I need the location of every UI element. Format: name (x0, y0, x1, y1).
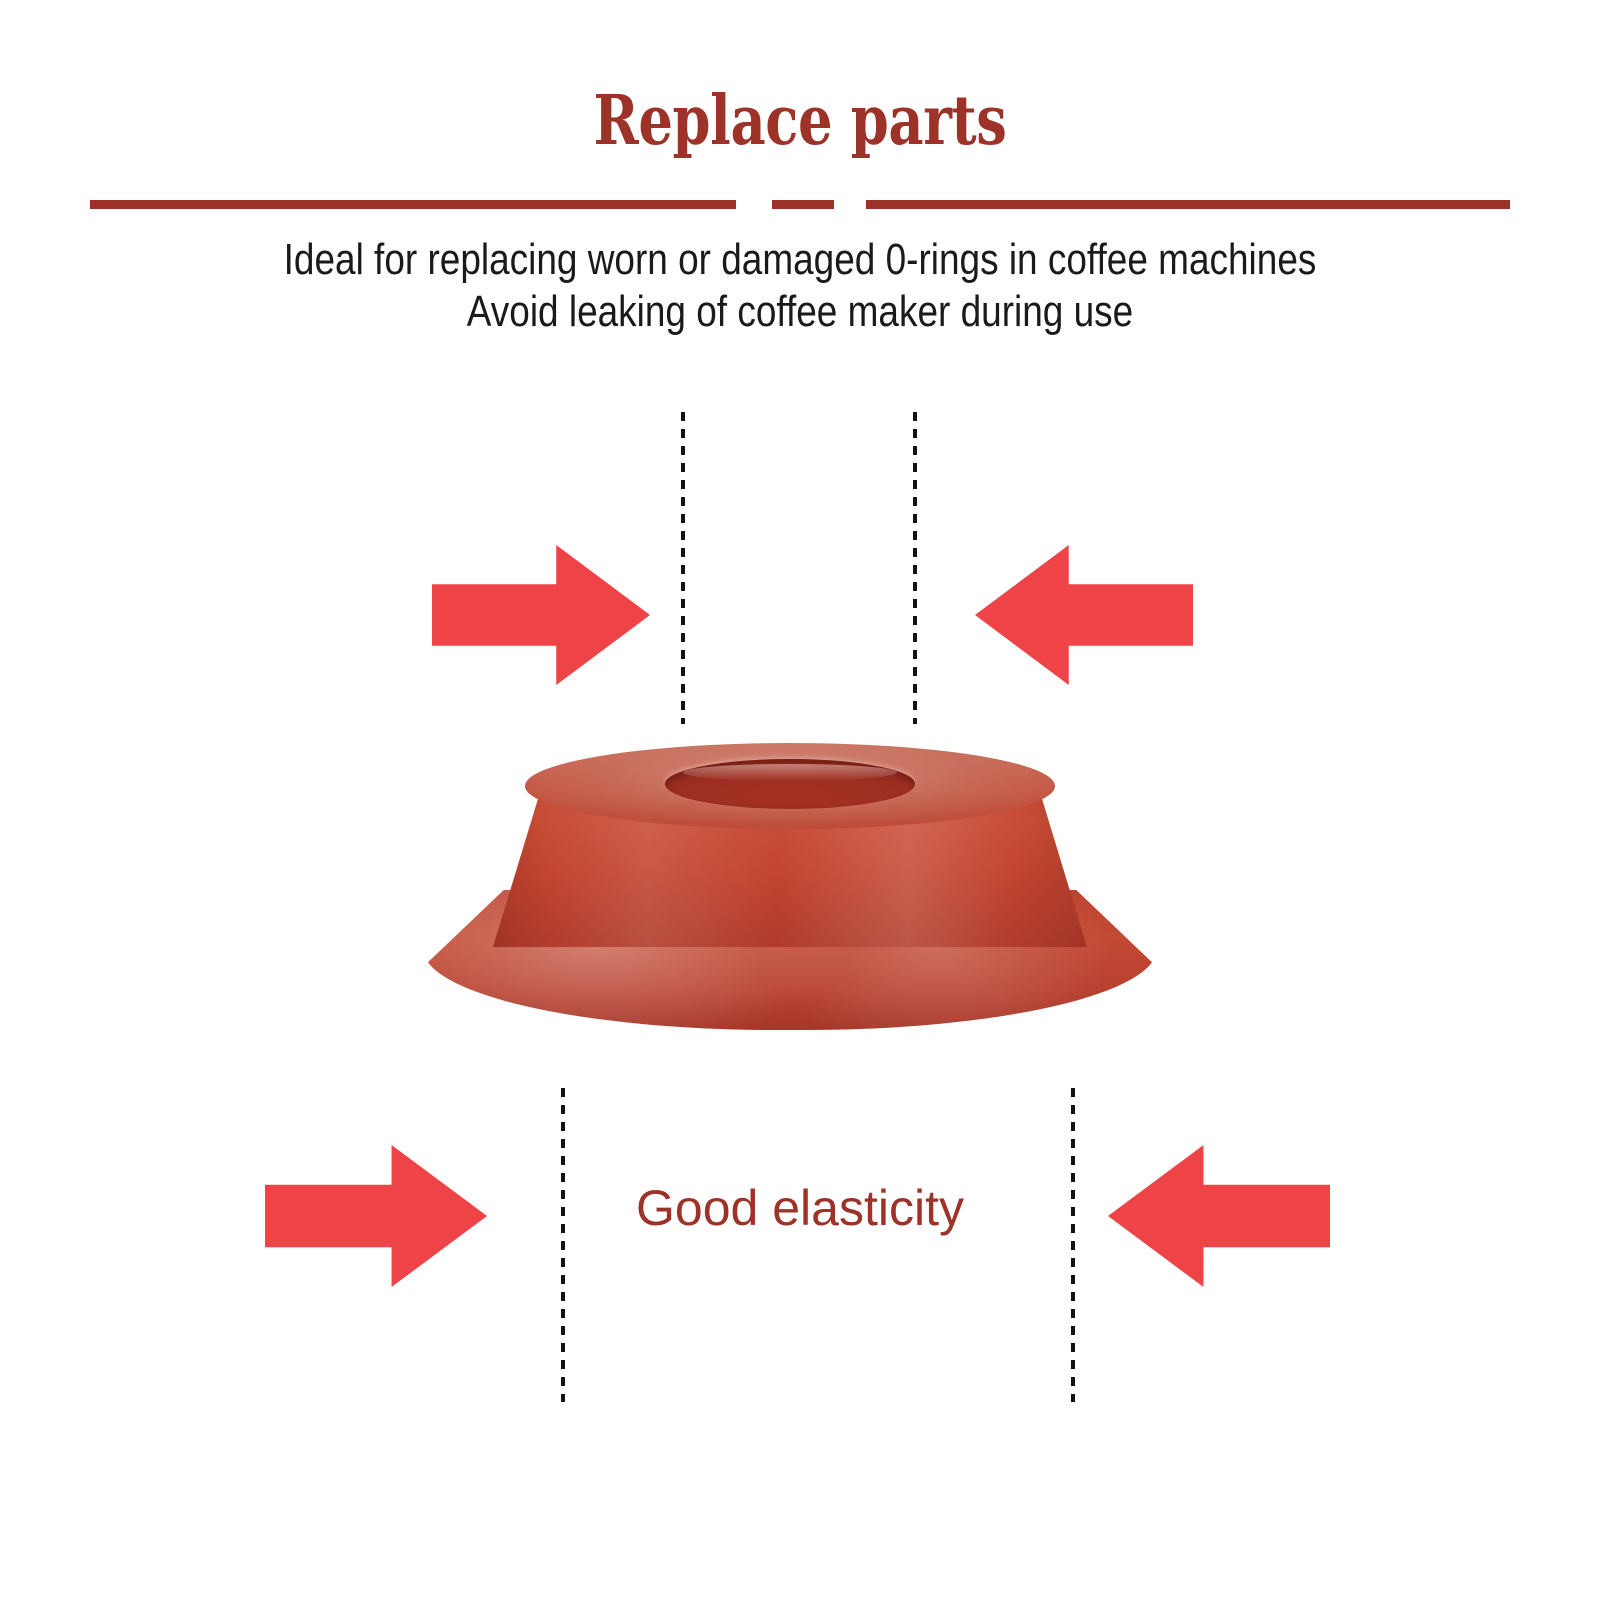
divider-segment-left (90, 200, 736, 209)
guide-line-top-right (913, 412, 917, 724)
gasket-hole-highlight (683, 764, 897, 781)
guide-line-top-left (681, 412, 685, 724)
guide-line-bottom-left (561, 1088, 565, 1402)
product-image (415, 735, 1165, 1035)
subtitle-block: Ideal for replacing worn or damaged 0-ri… (0, 234, 1600, 338)
title-divider (0, 200, 1600, 212)
compression-arrow-left-icon (975, 545, 1193, 685)
product-caption: Good elasticity (0, 1178, 1600, 1238)
divider-segment-dash (772, 200, 834, 209)
subtitle-line-1: Ideal for replacing worn or damaged 0-ri… (128, 234, 1472, 286)
divider-segment-right (866, 200, 1510, 209)
guide-line-bottom-right (1071, 1088, 1075, 1402)
subtitle-line-2: Avoid leaking of coffee maker during use (128, 286, 1472, 338)
page-title: Replace parts (160, 82, 1440, 160)
infographic-page: Replace parts Ideal for replacing worn o… (0, 0, 1600, 1600)
header-block: Replace parts Ideal for replacing worn o… (0, 0, 1600, 360)
compression-arrow-right-icon (432, 545, 650, 685)
